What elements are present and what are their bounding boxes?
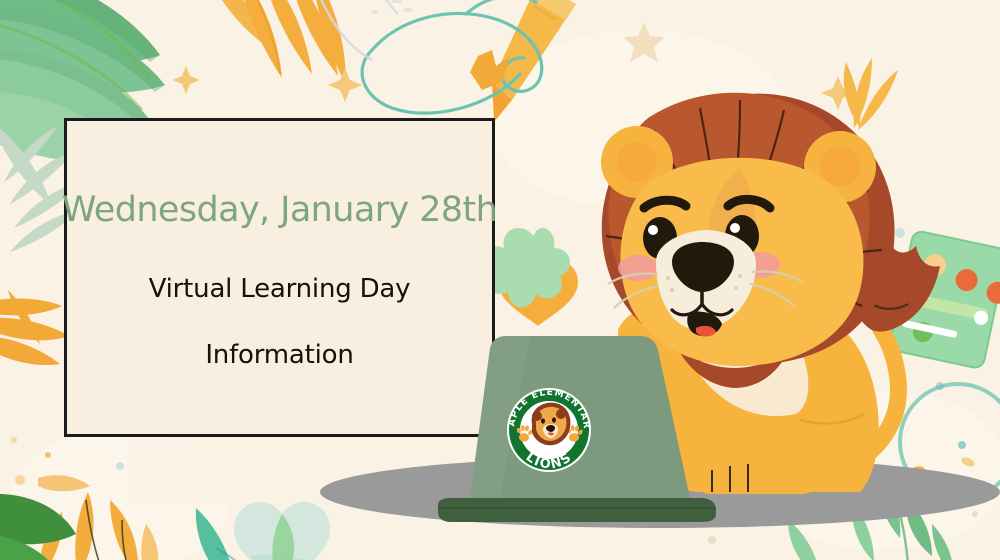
subtitle-line-1: Virtual Learning Day [149, 276, 411, 302]
announcement-card: Wednesday, January 28th Virtual Learning… [64, 118, 495, 437]
page-title: Wednesday, January 28th [62, 193, 497, 228]
poster-canvas: Wednesday, January 28th Virtual Learning… [0, 0, 1000, 560]
subtitle-line-2: Information [205, 342, 353, 368]
